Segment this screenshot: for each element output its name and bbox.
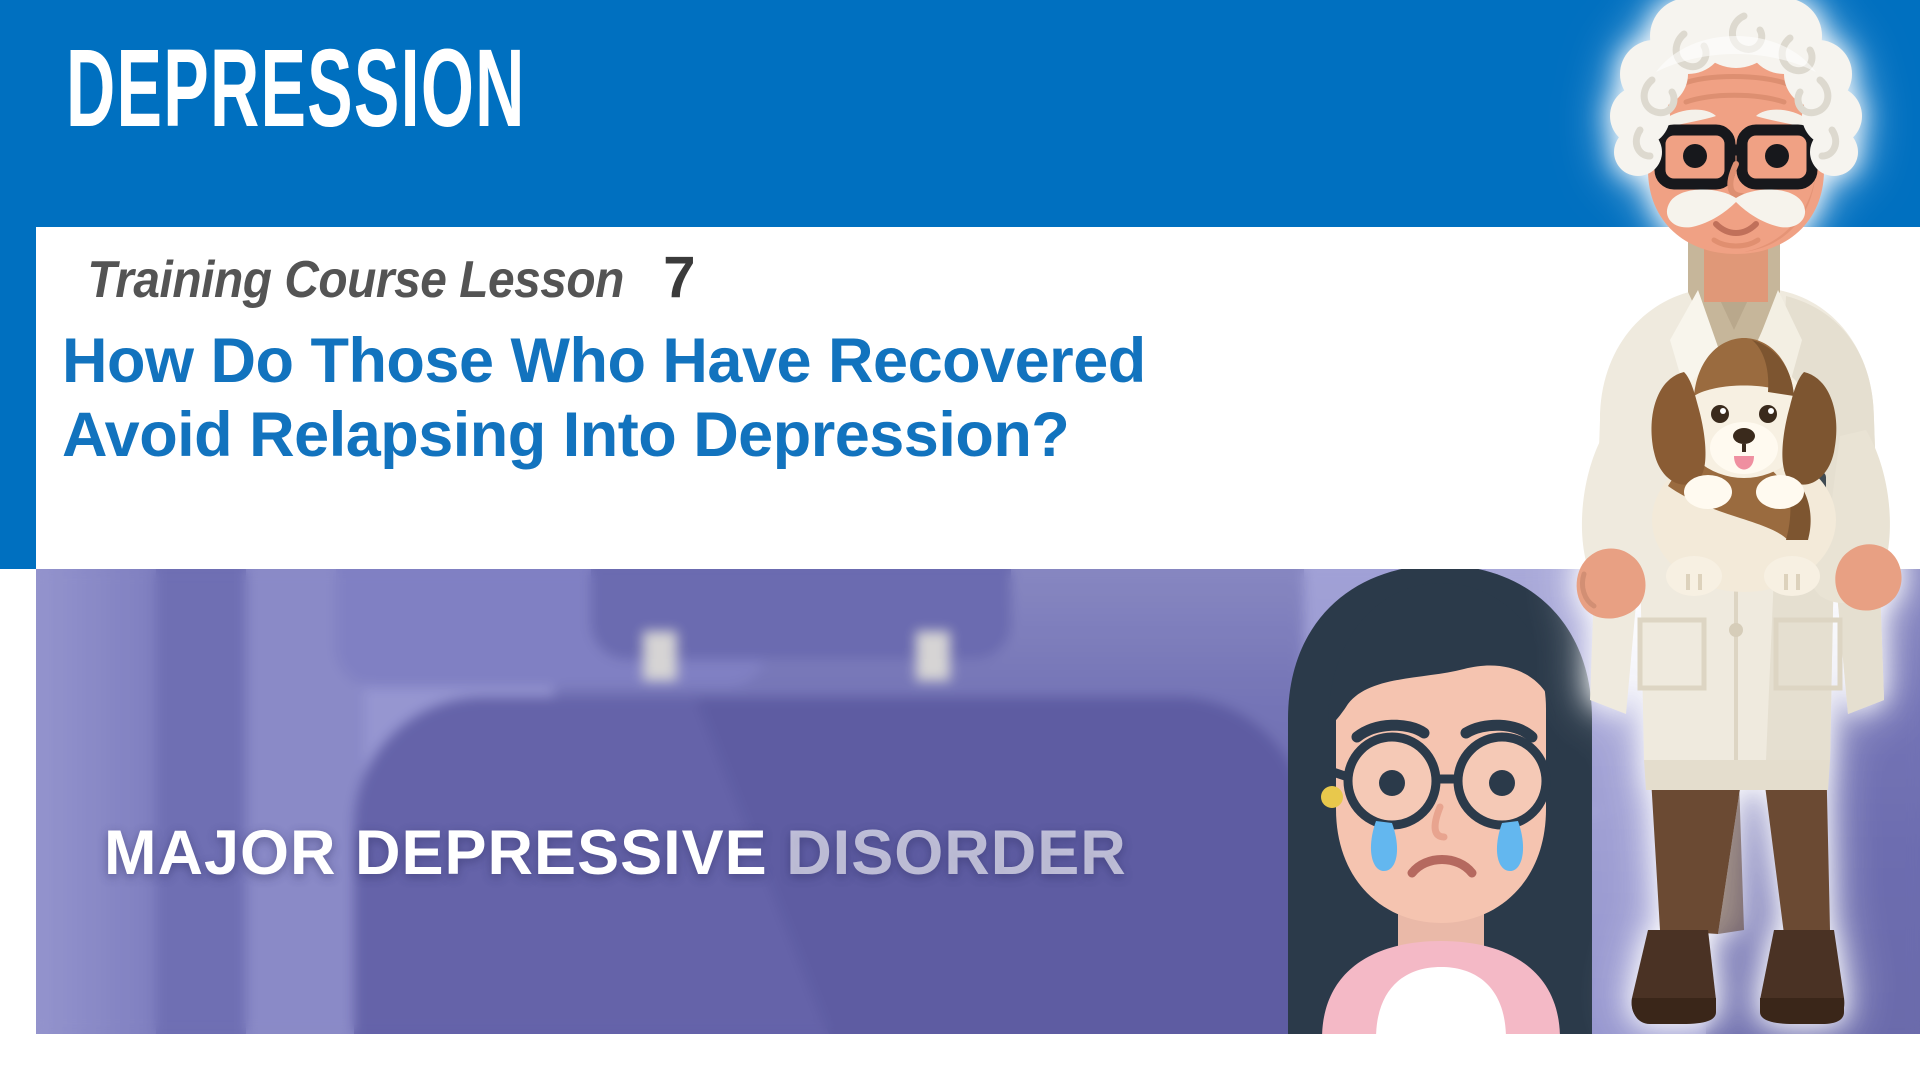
headline-line-2: Avoid Relapsing Into Depression?: [62, 399, 1146, 473]
media-caption: MAJOR DEPRESSIVE DISORDER: [104, 817, 1127, 889]
scientist-character: [1548, 0, 1920, 1080]
bottom-left-rail: [0, 1034, 36, 1080]
lesson-eyebrow: Training Course Lesson 7: [64, 249, 696, 307]
page-title: DEPRESSION: [66, 34, 526, 144]
lesson-headline: How Do Those Who Have Recovered Avoid Re…: [62, 325, 1146, 472]
headline-line-1: How Do Those Who Have Recovered: [62, 325, 1146, 399]
lesson-eyebrow-text: Training Course Lesson: [87, 254, 624, 306]
media-caption-strong: MAJOR DEPRESSIVE: [104, 818, 768, 888]
puppy-illustration: [1652, 338, 1837, 596]
slide-root: MAJOR DEPRESSIVE DISORDER DEPRESSION Tra…: [0, 0, 1920, 1080]
lesson-number: 7: [663, 249, 695, 307]
media-caption-soft: DISORDER: [786, 818, 1127, 888]
